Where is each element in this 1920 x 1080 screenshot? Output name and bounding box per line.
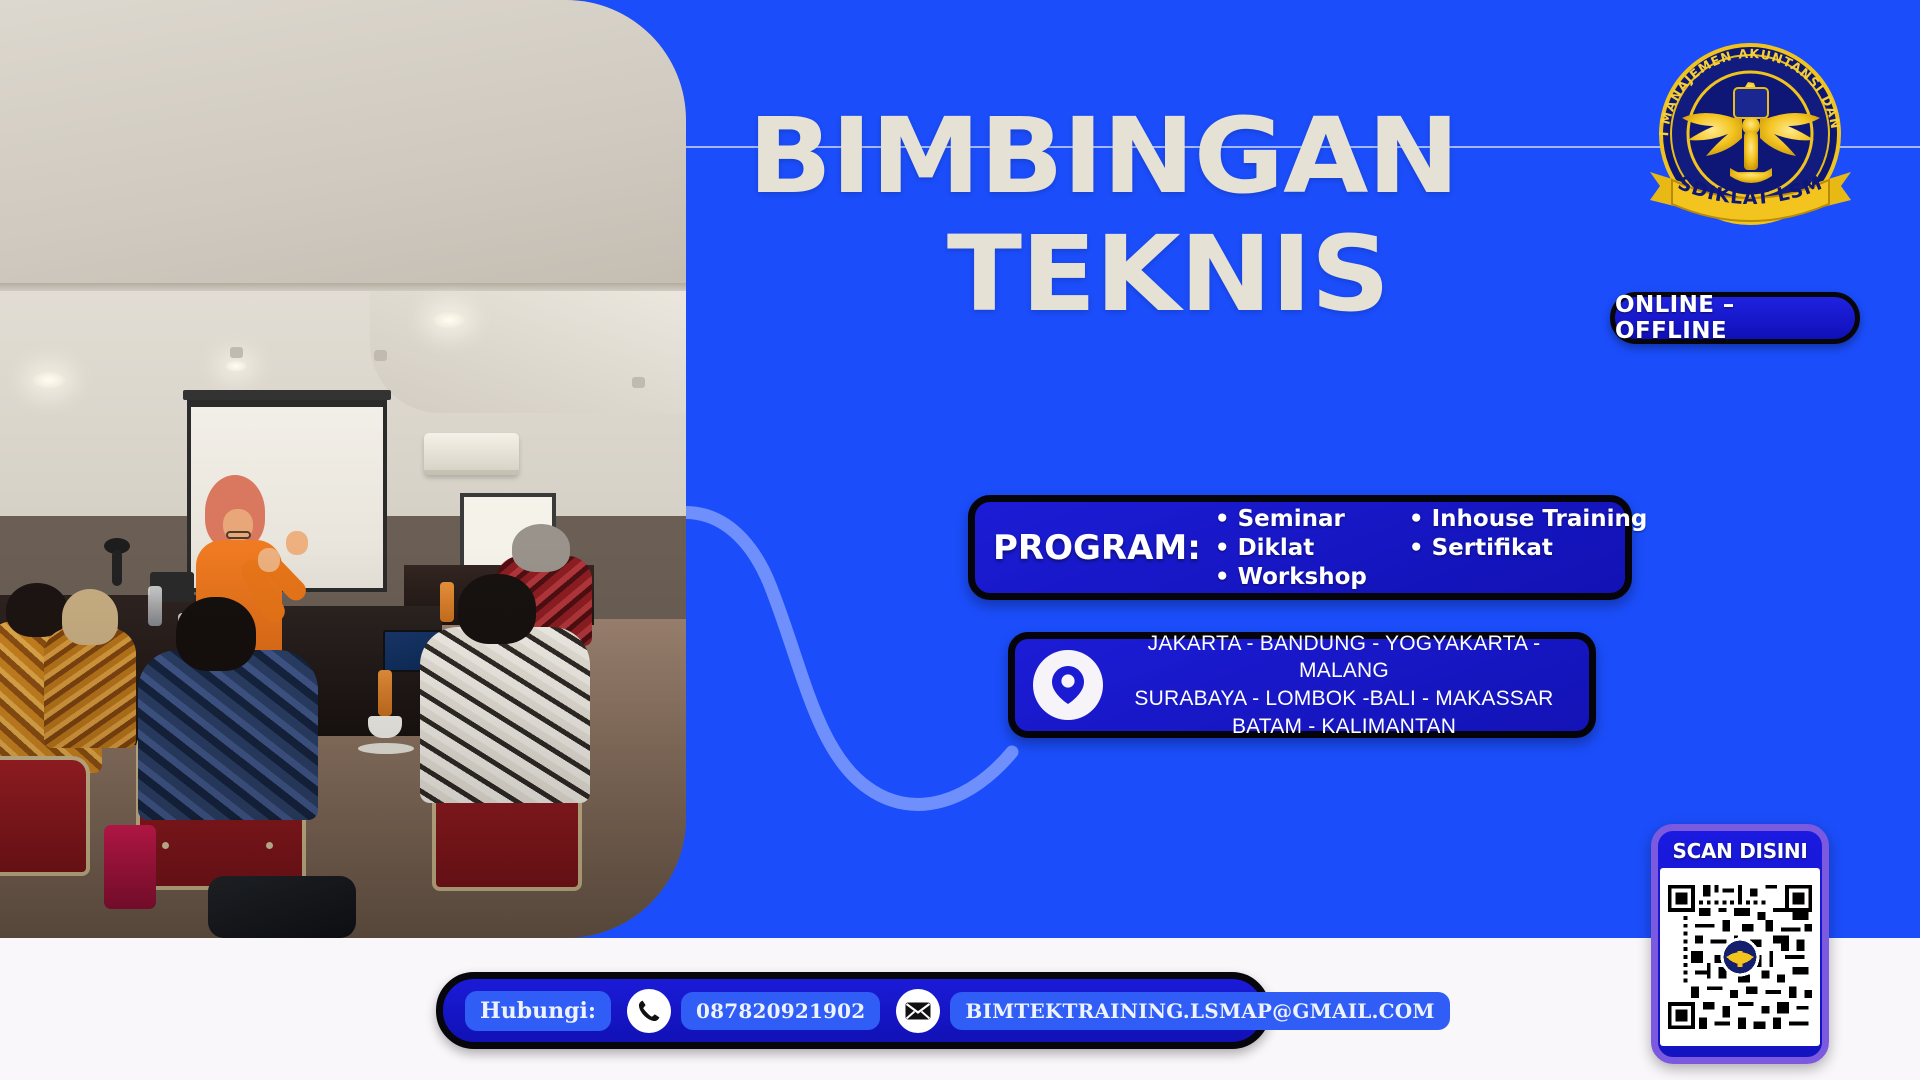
pusdiklat-lsmap-logo: LEMBAGA STUDI MANAJEMEN AKUNTANSI DAN PE… (1638, 22, 1863, 237)
qr-card[interactable]: SCAN DISINI (1651, 824, 1829, 1064)
program-item: Workshop (1215, 564, 1367, 590)
program-column-1: Seminar Diklat Workshop (1215, 506, 1367, 590)
phone-icon (627, 989, 671, 1033)
contact-bar: Hubungi: 087820921902 BIMTEKTRAINING.LSM… (436, 972, 1270, 1049)
program-item: Sertifikat (1409, 535, 1648, 561)
location-line: SURABAYA - LOMBOK -BALI - MAKASSAR (1121, 685, 1567, 713)
location-line: BATAM - KALIMANTAN (1121, 713, 1567, 741)
photo-content (0, 0, 686, 938)
qr-code[interactable] (1660, 868, 1820, 1046)
program-item: Inhouse Training (1409, 506, 1648, 532)
seminar-photo (0, 0, 686, 938)
email-address: BIMTEKTRAINING.LSMAP@GMAIL.COM (950, 992, 1449, 1030)
program-label: PROGRAM: (993, 528, 1201, 568)
program-item: Diklat (1215, 535, 1367, 561)
program-column-2: Inhouse Training Sertifikat (1409, 506, 1648, 590)
qr-title: SCAN DISINI (1672, 839, 1807, 863)
program-item: Seminar (1215, 506, 1367, 532)
envelope-icon (896, 989, 940, 1033)
phone-number: 087820921902 (681, 992, 880, 1030)
photo-vignette (0, 0, 686, 938)
phone-group[interactable]: 087820921902 (627, 989, 880, 1033)
title-line-1: BIMBINGAN (748, 108, 1638, 206)
title-line-2: TEKNIS (723, 226, 1613, 324)
map-pin-icon (1033, 650, 1103, 720)
program-box: PROGRAM: Seminar Diklat Workshop Inhouse… (968, 495, 1632, 600)
program-columns: Seminar Diklat Workshop Inhouse Training… (1215, 506, 1648, 590)
location-line: JAKARTA - BANDUNG - YOGYAKARTA - MALANG (1121, 630, 1567, 685)
email-group[interactable]: BIMTEKTRAINING.LSMAP@GMAIL.COM (896, 989, 1449, 1033)
online-offline-label: ONLINE – OFFLINE (1615, 292, 1855, 344)
page-title: BIMBINGAN TEKNIS (748, 108, 1588, 324)
contact-label: Hubungi: (465, 991, 611, 1031)
locations-box: JAKARTA - BANDUNG - YOGYAKARTA - MALANG … (1008, 632, 1596, 738)
poster-canvas: BIMBINGAN TEKNIS LEMBAGA STUDI MANAJEMEN… (0, 0, 1920, 1080)
online-offline-badge[interactable]: ONLINE – OFFLINE (1610, 292, 1860, 344)
locations-text: JAKARTA - BANDUNG - YOGYAKARTA - MALANG … (1121, 630, 1589, 741)
